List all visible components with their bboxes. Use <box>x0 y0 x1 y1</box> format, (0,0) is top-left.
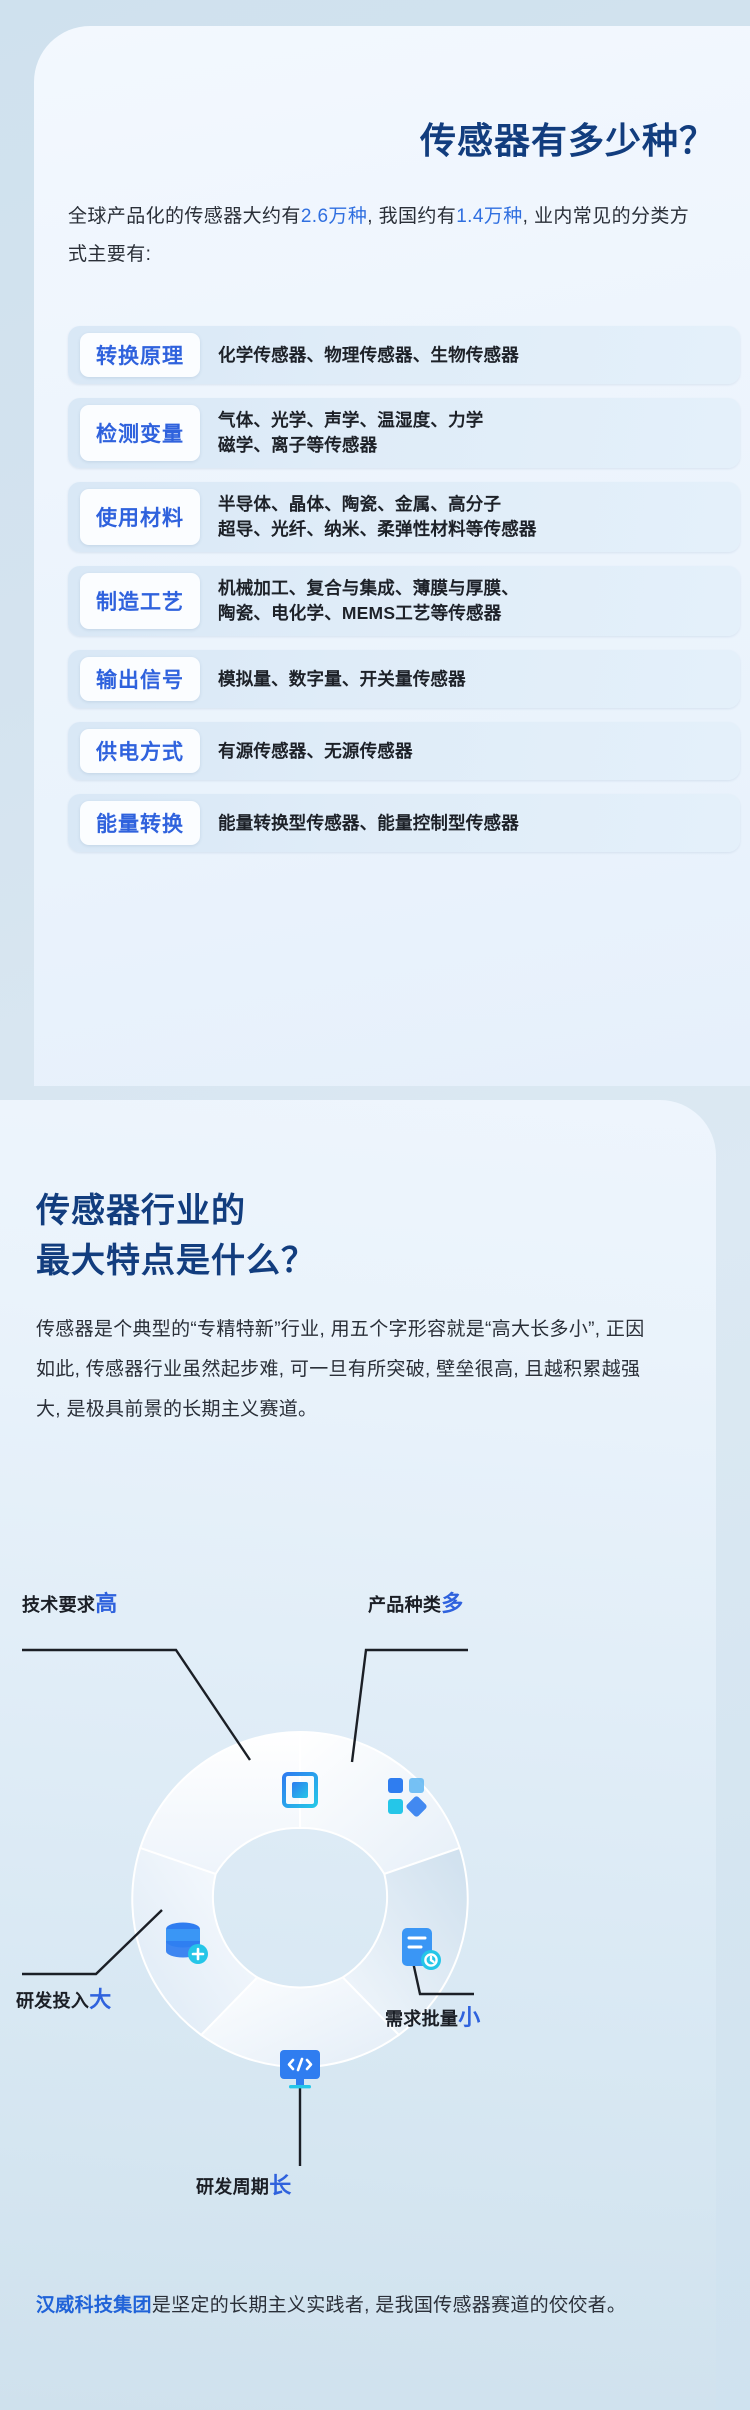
donut-label-batch: 需求批量小 <box>385 2000 481 2032</box>
category-row-measured-variable[interactable]: 检测变量 气体、光学、声学、温湿度、力学 磁学、离子等传感器 <box>68 398 740 468</box>
category-row-output-signal[interactable]: 输出信号 模拟量、数字量、开关量传感器 <box>68 650 740 708</box>
category-list: 转换原理 化学传感器、物理传感器、生物传感器 检测变量 气体、光学、声学、温湿度… <box>68 326 740 866</box>
donut-label-tech: 技术要求高 <box>22 1586 118 1618</box>
category-chip: 能量转换 <box>80 801 200 845</box>
intro-highlight-china-unit: 种 <box>503 206 522 227</box>
donut-label-variety: 产品种类多 <box>368 1586 464 1618</box>
donut-label-batch-key: 小 <box>458 2005 480 2030</box>
category-label: 检测变量 <box>96 418 184 448</box>
category-row-material[interactable]: 使用材料 半导体、晶体、陶瓷、金属、高分子 超导、光纤、纳米、柔弹性材料等传感器 <box>68 482 740 552</box>
intro-highlight-china: 1.4万 <box>456 206 503 227</box>
category-description: 能量转换型传感器、能量控制型传感器 <box>218 811 519 836</box>
category-description: 气体、光学、声学、温湿度、力学 磁学、离子等传感器 <box>218 408 484 458</box>
category-chip: 供电方式 <box>80 729 200 773</box>
intro-highlight-global: 2.6万种 <box>301 206 367 227</box>
category-description: 机械加工、复合与集成、薄膜与厚膜、 陶瓷、电化学、MEMS工艺等传感器 <box>218 576 519 626</box>
page-title-one: 传感器有多少种？ <box>34 112 716 164</box>
section-two-card: 传感器行业的 最大特点是什么？ 传感器是个典型的“专精特新”行业, 用五个字形容… <box>0 1100 716 2410</box>
code-monitor-icon <box>280 2050 320 2088</box>
page-title-two-line2: 最大特点是什么？ <box>36 1236 316 1286</box>
donut-label-tech-key: 高 <box>95 1591 117 1616</box>
category-description: 有源传感器、无源传感器 <box>218 739 413 764</box>
chip-icon <box>279 1769 321 1811</box>
category-description: 模拟量、数字量、开关量传感器 <box>218 667 466 692</box>
category-chip: 制造工艺 <box>80 573 200 629</box>
category-chip: 转换原理 <box>80 333 200 377</box>
section-one-card: 传感器有多少种？ 全球产品化的传感器大约有2.6万种, 我国约有1.4万种, 业… <box>34 26 750 1086</box>
category-label: 供电方式 <box>96 736 184 766</box>
category-chip: 检测变量 <box>80 405 200 461</box>
category-label: 制造工艺 <box>96 586 184 616</box>
brand-name: 汉威科技集团 <box>36 2295 152 2316</box>
donut-label-cycle: 研发周期长 <box>196 2168 292 2200</box>
category-description: 化学传感器、物理传感器、生物传感器 <box>218 343 519 368</box>
category-label: 输出信号 <box>96 664 184 694</box>
closing-paragraph: 汉威科技集团是坚定的长期主义实践者, 是我国传感器赛道的佼佼者。 <box>36 2286 666 2326</box>
donut-label-rd-text: 研发投入 <box>16 1991 89 2011</box>
category-row-manufacturing-process[interactable]: 制造工艺 机械加工、复合与集成、薄膜与厚膜、 陶瓷、电化学、MEMS工艺等传感器 <box>68 566 740 636</box>
intro-paragraph: 全球产品化的传感器大约有2.6万种, 我国约有1.4万种, 业内常见的分类方式主… <box>68 198 698 274</box>
feature-paragraph: 传感器是个典型的“专精特新”行业, 用五个字形容就是“高大长多小”, 正因如此,… <box>36 1310 656 1430</box>
intro-text-part2: , 我国约有 <box>367 206 456 227</box>
leader-line-tech <box>22 1650 250 1760</box>
donut-label-rd: 研发投入大 <box>16 1982 112 2014</box>
category-label: 能量转换 <box>96 808 184 838</box>
donut-label-rd-key: 大 <box>89 1987 111 2012</box>
category-label: 使用材料 <box>96 502 184 532</box>
category-row-conversion-principle[interactable]: 转换原理 化学传感器、物理传感器、生物传感器 <box>68 326 740 384</box>
donut-label-variety-key: 多 <box>441 1591 463 1616</box>
category-row-energy-conversion[interactable]: 能量转换 能量转换型传感器、能量控制型传感器 <box>68 794 740 852</box>
donut-label-variety-text: 产品种类 <box>368 1595 441 1615</box>
closing-text: 是坚定的长期主义实践者, 是我国传感器赛道的佼佼者。 <box>152 2295 626 2316</box>
page-title-two-line1: 传感器行业的 <box>36 1186 316 1236</box>
leader-line-variety <box>352 1650 468 1762</box>
donut-label-cycle-key: 长 <box>269 2173 291 2198</box>
category-description: 半导体、晶体、陶瓷、金属、高分子 超导、光纤、纳米、柔弹性材料等传感器 <box>218 492 537 542</box>
category-chip: 输出信号 <box>80 657 200 701</box>
category-label: 转换原理 <box>96 340 184 370</box>
donut-segment-tech <box>300 1732 460 1874</box>
donut-label-tech-text: 技术要求 <box>22 1595 95 1615</box>
donut-label-cycle-text: 研发周期 <box>196 2177 269 2197</box>
donut-svg <box>0 1570 716 2260</box>
donut-diagram: 技术要求高 产品种类多 研发投入大 需求批量小 研发周期长 <box>0 1570 716 2260</box>
donut-label-batch-text: 需求批量 <box>385 2009 458 2029</box>
category-row-power-supply[interactable]: 供电方式 有源传感器、无源传感器 <box>68 722 740 780</box>
page-title-two: 传感器行业的 最大特点是什么？ <box>36 1186 316 1286</box>
donut-segment-batch <box>140 1732 300 1874</box>
category-chip: 使用材料 <box>80 489 200 545</box>
intro-text-part1: 全球产品化的传感器大约有 <box>68 206 301 227</box>
